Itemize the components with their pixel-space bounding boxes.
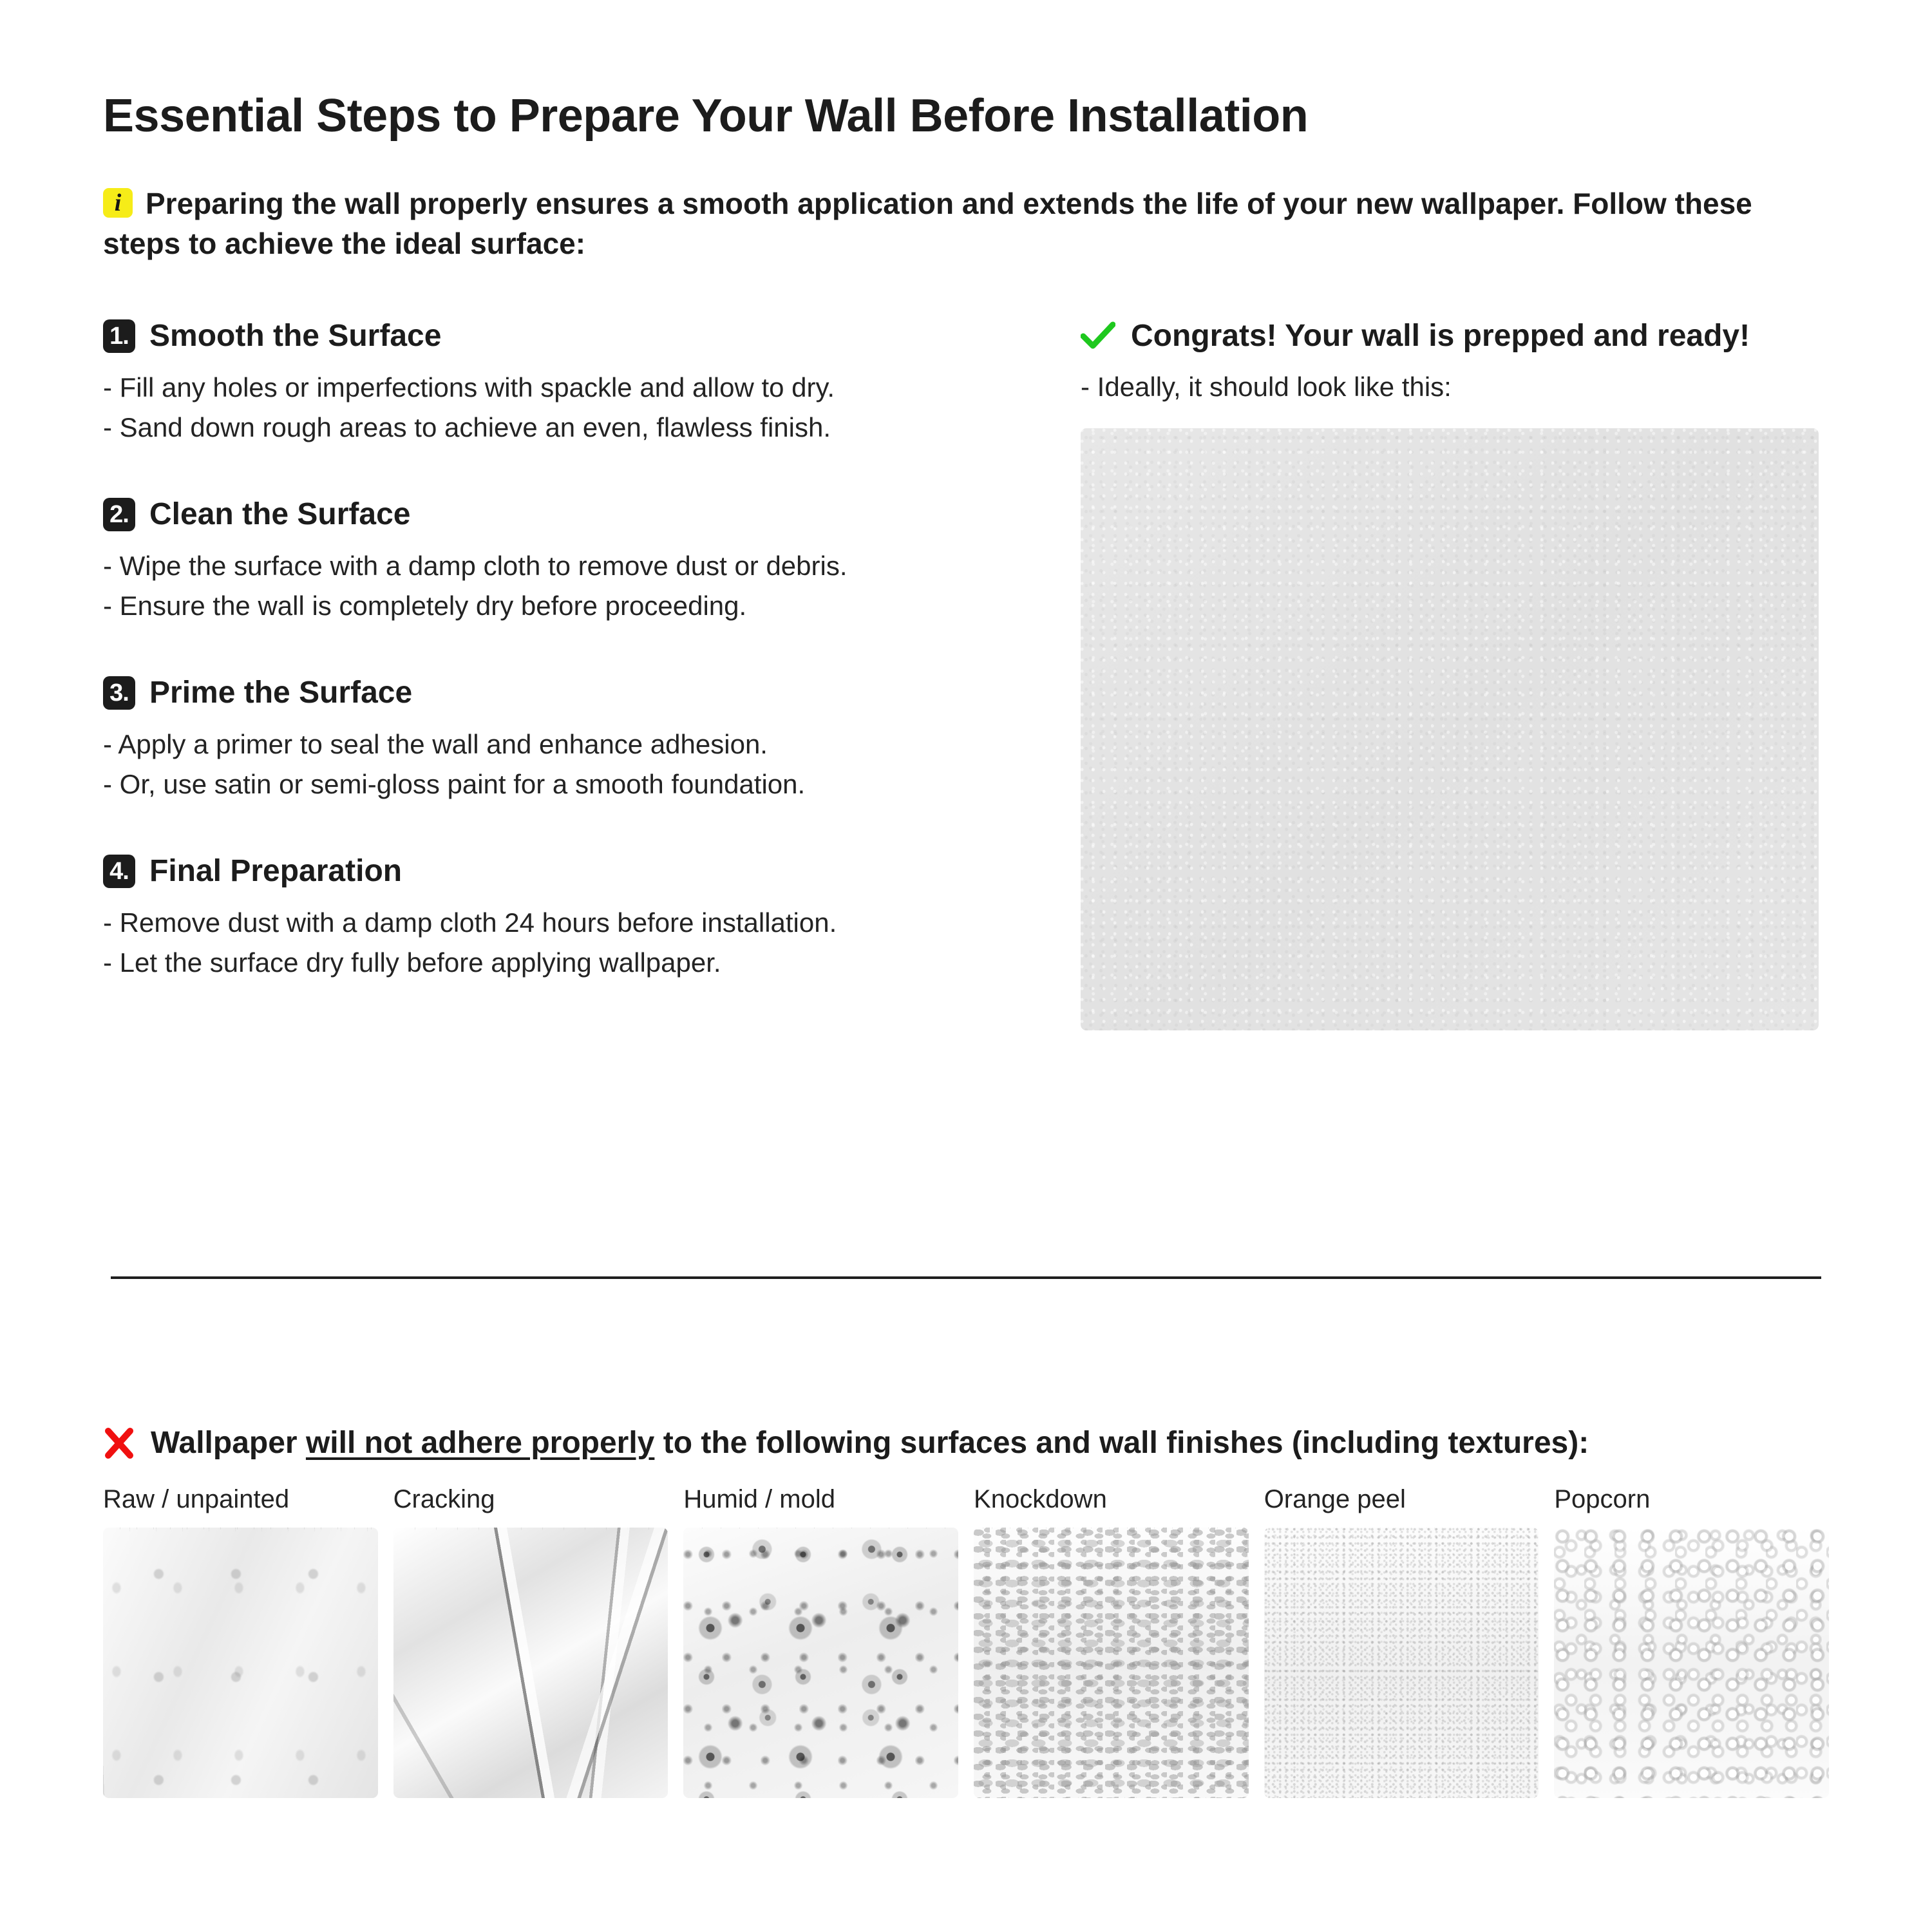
unsuitable-surfaces-section: Wallpaper will not adhere properly to th… [103, 1426, 1829, 1798]
step-number-badge: 3. [103, 676, 135, 710]
step-item: 1. Smooth the Surface - Fill any holes o… [103, 319, 1037, 448]
knockdown-texture-image [974, 1528, 1249, 1798]
orange-peel-texture-image [1264, 1528, 1539, 1798]
body-columns: 1. Smooth the Surface - Fill any holes o… [103, 319, 1829, 1031]
step-number-badge: 4. [103, 855, 135, 888]
bad-surface-label: Humid / mold [683, 1484, 958, 1515]
intro-paragraph: iPreparing the wall properly ensures a s… [103, 184, 1829, 264]
step-header: 2. Clean the Surface [103, 498, 1037, 532]
section-divider [111, 1276, 1821, 1279]
bad-surface-item: Orange peel [1264, 1484, 1539, 1798]
step-header: 3. Prime the Surface [103, 676, 1037, 710]
bad-surface-grid: Raw / unpainted Cracking Humid / mold Kn… [103, 1484, 1829, 1798]
warning-header: Wallpaper will not adhere properly to th… [103, 1426, 1829, 1461]
step-title: Clean the Surface [149, 498, 410, 532]
popcorn-texture-image [1554, 1528, 1829, 1798]
congrats-title: Congrats! Your wall is prepped and ready… [1131, 319, 1750, 354]
page-title: Essential Steps to Prepare Your Wall Bef… [103, 0, 1829, 142]
step-number-badge: 2. [103, 498, 135, 531]
step-detail-line: - Fill any holes or imperfections with s… [103, 368, 1037, 408]
green-check-icon [1081, 321, 1115, 351]
warning-text-emphasis: will not adhere properly [306, 1426, 654, 1460]
congrats-header: Congrats! Your wall is prepped and ready… [1081, 319, 1829, 354]
step-item: 3. Prime the Surface - Apply a primer to… [103, 676, 1037, 804]
steps-column: 1. Smooth the Surface - Fill any holes o… [103, 319, 1037, 983]
bad-surface-label: Cracking [393, 1484, 668, 1515]
red-x-icon [103, 1427, 135, 1459]
step-detail-line: - Or, use satin or semi-gloss paint for … [103, 764, 1037, 804]
wall-prep-infographic: Essential Steps to Prepare Your Wall Bef… [0, 0, 1932, 1932]
bad-surface-label: Raw / unpainted [103, 1484, 378, 1515]
warning-text-after: to the following surfaces and wall finis… [654, 1426, 1589, 1460]
step-detail-line: - Sand down rough areas to achieve an ev… [103, 408, 1037, 448]
intro-text: Preparing the wall properly ensures a sm… [103, 187, 1752, 261]
bad-surface-label: Knockdown [974, 1484, 1249, 1515]
bad-surface-item: Humid / mold [683, 1484, 958, 1798]
step-title: Final Preparation [149, 855, 402, 889]
step-detail-line: - Wipe the surface with a damp cloth to … [103, 546, 1037, 586]
cracking-paint-texture-image [393, 1528, 668, 1798]
step-header: 1. Smooth the Surface [103, 319, 1037, 354]
bad-surface-label: Popcorn [1554, 1484, 1829, 1515]
bad-surface-item: Popcorn [1554, 1484, 1829, 1798]
bad-surface-item: Cracking [393, 1484, 668, 1798]
humid-mold-texture-image [683, 1528, 958, 1798]
ideal-prepped-wall-image [1081, 428, 1819, 1030]
step-detail-line: - Let the surface dry fully before apply… [103, 943, 1037, 983]
step-title: Smooth the Surface [149, 319, 441, 354]
step-number-badge: 1. [103, 319, 135, 353]
bad-surface-item: Knockdown [974, 1484, 1249, 1798]
step-header: 4. Final Preparation [103, 855, 1037, 889]
bad-surface-label: Orange peel [1264, 1484, 1539, 1515]
step-detail-line: - Remove dust with a damp cloth 24 hours… [103, 903, 1037, 943]
step-item: 4. Final Preparation - Remove dust with … [103, 855, 1037, 983]
congrats-subtitle: - Ideally, it should look like this: [1081, 368, 1829, 407]
raw-unpainted-texture-image [103, 1528, 378, 1798]
bad-surface-item: Raw / unpainted [103, 1484, 378, 1798]
congrats-column: Congrats! Your wall is prepped and ready… [1037, 319, 1829, 1031]
step-title: Prime the Surface [149, 676, 412, 710]
warning-text: Wallpaper will not adhere properly to th… [151, 1426, 1589, 1461]
info-icon-glyph: i [103, 191, 133, 215]
step-detail-line: - Ensure the wall is completely dry befo… [103, 586, 1037, 626]
info-icon: i [103, 188, 133, 218]
warning-text-before: Wallpaper [151, 1426, 306, 1460]
step-detail-line: - Apply a primer to seal the wall and en… [103, 724, 1037, 764]
step-item: 2. Clean the Surface - Wipe the surface … [103, 498, 1037, 626]
